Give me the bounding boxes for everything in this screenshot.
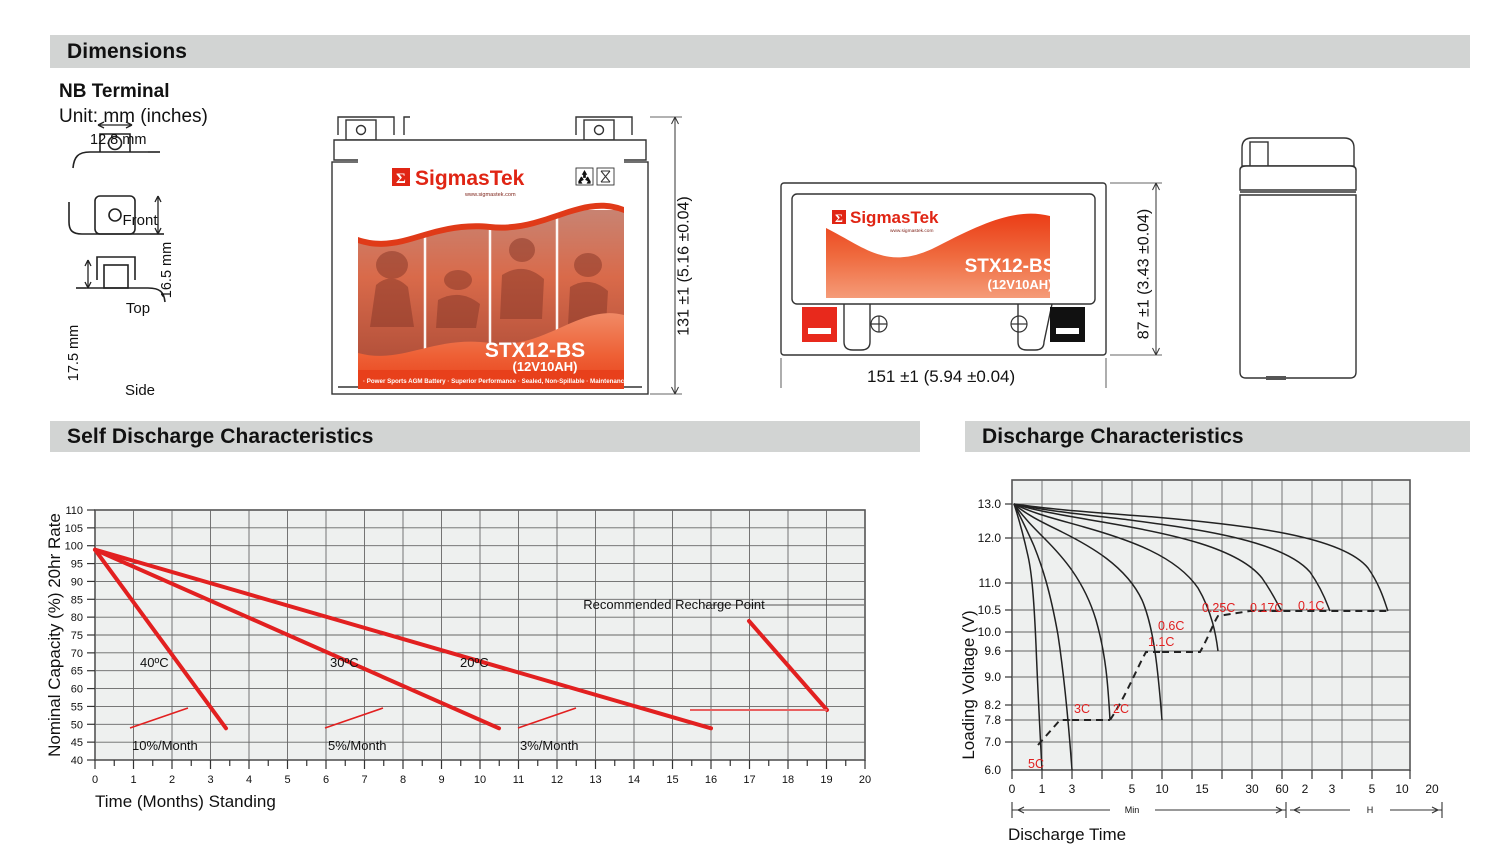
- discharge-chart: 13.012.011.0 10.510.09.6 9.08.27.8 7.06.…: [950, 470, 1450, 850]
- brand-sigma-icon: Σ: [396, 171, 406, 187]
- section-title-dimensions: Dimensions: [67, 40, 187, 64]
- svg-text:60: 60: [1275, 782, 1289, 796]
- no-dispose-icon: [597, 168, 614, 185]
- x-unit-min: Min: [1125, 805, 1140, 815]
- svg-text:2: 2: [169, 774, 175, 786]
- svg-text:3C: 3C: [1074, 702, 1090, 716]
- section-title-discharge: Discharge Characteristics: [982, 425, 1244, 449]
- brand-website-side: www.sigmastek.com: [890, 228, 933, 234]
- svg-text:14: 14: [628, 774, 640, 786]
- svg-text:10.5: 10.5: [978, 603, 1002, 617]
- section-header-discharge: Discharge Characteristics: [965, 421, 1470, 452]
- svg-text:20: 20: [1425, 782, 1439, 796]
- datasheet-page: Dimensions NB Terminal Unit: mm (inches): [0, 0, 1500, 856]
- battery-side-view: Σ SigmasTek www.sigmastek.com STX12-BS (…: [778, 180, 1178, 390]
- svg-text:0: 0: [92, 774, 98, 786]
- terminal-view-side: Side: [110, 382, 170, 399]
- positive-terminal: [802, 307, 837, 342]
- svg-text:2C: 2C: [1113, 702, 1129, 716]
- svg-text:70: 70: [71, 648, 83, 660]
- svg-text:1.1C: 1.1C: [1148, 635, 1174, 649]
- svg-text:3: 3: [1329, 782, 1336, 796]
- svg-text:Recommended Recharge Point: Recommended Recharge Point: [583, 597, 765, 612]
- svg-text:0.25C: 0.25C: [1202, 601, 1235, 615]
- svg-text:7.8: 7.8: [984, 713, 1001, 727]
- svg-text:19: 19: [820, 774, 832, 786]
- svg-text:15: 15: [666, 774, 678, 786]
- svg-text:7: 7: [361, 774, 367, 786]
- recycle-icon: [576, 168, 593, 185]
- y-axis-title: Nominal Capacity (%) 20hr Rate: [45, 513, 64, 757]
- svg-text:30: 30: [1245, 782, 1259, 796]
- section-header-self-discharge: Self Discharge Characteristics: [50, 421, 920, 452]
- battery-rating-side: (12V10AH): [987, 277, 1052, 292]
- svg-text:100: 100: [65, 541, 83, 553]
- svg-text:13: 13: [589, 774, 601, 786]
- svg-text:0: 0: [1009, 782, 1016, 796]
- nb-terminal-title: NB Terminal: [59, 81, 170, 103]
- svg-text:5%/Month: 5%/Month: [328, 738, 387, 753]
- svg-text:8.2: 8.2: [984, 698, 1001, 712]
- battery-width-dim: 151 ±1 (5.94 ±0.04): [867, 367, 1015, 387]
- terminal-width-dim: 12.8 mm: [90, 132, 146, 148]
- brand-name-side: SigmasTek: [850, 208, 939, 227]
- discharge-y-axis-title: Loading Voltage (V): [959, 610, 978, 759]
- battery-front-view: · Power Sports AGM Battery · Superior Pe…: [330, 115, 710, 400]
- terminal-height-dim: 16.5 mm: [159, 242, 175, 298]
- svg-text:12: 12: [551, 774, 563, 786]
- svg-text:75: 75: [71, 630, 83, 642]
- y-axis-tick-labels: 110105100 959085 807570 656055 504540: [65, 505, 83, 767]
- svg-text:3: 3: [1069, 782, 1076, 796]
- section-title-self-discharge: Self Discharge Characteristics: [67, 425, 373, 449]
- svg-text:40ºC: 40ºC: [140, 655, 169, 670]
- svg-text:6: 6: [323, 774, 329, 786]
- svg-text:5: 5: [284, 774, 290, 786]
- svg-text:55: 55: [71, 701, 83, 713]
- svg-text:7.0: 7.0: [984, 735, 1001, 749]
- svg-text:11.0: 11.0: [979, 576, 1002, 590]
- svg-text:10.0: 10.0: [978, 625, 1002, 639]
- terminal-view-top: Top: [108, 300, 168, 317]
- x-unit-hour: H: [1367, 805, 1374, 815]
- svg-text:2: 2: [1302, 782, 1309, 796]
- svg-text:6.0: 6.0: [984, 763, 1001, 777]
- svg-text:10: 10: [474, 774, 486, 786]
- terminal-view-front: Front: [110, 212, 170, 229]
- svg-text:0.1C: 0.1C: [1298, 599, 1324, 613]
- svg-text:0.6C: 0.6C: [1158, 619, 1184, 633]
- battery-rating: (12V10AH): [512, 359, 577, 374]
- svg-text:60: 60: [71, 684, 83, 696]
- svg-text:5C: 5C: [1028, 757, 1044, 771]
- brand-sigma-icon-side: Σ: [835, 211, 843, 225]
- x-axis-title: Time (Months) Standing: [95, 792, 276, 811]
- discharge-x-axis-title: Discharge Time: [1008, 825, 1126, 844]
- svg-text:110: 110: [65, 505, 83, 517]
- svg-text:1: 1: [130, 774, 136, 786]
- svg-text:3%/Month: 3%/Month: [520, 738, 579, 753]
- svg-text:9.0: 9.0: [984, 670, 1001, 684]
- svg-text:85: 85: [71, 594, 83, 606]
- x-unit-brackets: [1012, 802, 1442, 818]
- svg-text:5: 5: [1369, 782, 1376, 796]
- unit-label: Unit: mm (inches): [59, 106, 208, 128]
- svg-text:10%/Month: 10%/Month: [132, 738, 198, 753]
- svg-text:10: 10: [1155, 782, 1169, 796]
- svg-text:1: 1: [1039, 782, 1046, 796]
- svg-text:65: 65: [71, 666, 83, 678]
- svg-text:13.0: 13.0: [978, 497, 1002, 511]
- svg-text:105: 105: [65, 523, 83, 535]
- svg-text:20ºC: 20ºC: [460, 655, 489, 670]
- svg-text:5: 5: [1129, 782, 1136, 796]
- svg-text:11: 11: [513, 774, 524, 786]
- svg-text:95: 95: [71, 559, 83, 571]
- brand-website: www.sigmastek.com: [464, 192, 516, 198]
- svg-text:15: 15: [1195, 782, 1209, 796]
- battery-side-height-dim: 87 ±1 (3.43 ±0.04): [1135, 209, 1153, 340]
- discharge-y-tick-labels: 13.012.011.0 10.510.09.6 9.08.27.8 7.06.…: [978, 497, 1002, 777]
- negative-terminal: [1050, 307, 1085, 342]
- brand-name: SigmasTek: [415, 167, 525, 190]
- svg-text:4: 4: [246, 774, 252, 786]
- svg-text:45: 45: [71, 737, 83, 749]
- svg-text:3: 3: [207, 774, 213, 786]
- svg-text:8: 8: [400, 774, 406, 786]
- svg-text:80: 80: [71, 612, 83, 624]
- terminal-depth-dim: 17.5 mm: [66, 325, 82, 381]
- svg-text:16: 16: [705, 774, 717, 786]
- svg-text:9: 9: [438, 774, 444, 786]
- self-discharge-chart: 110105100 959085 807570 656055 504540: [40, 495, 890, 815]
- x-axis-tick-labels: 012 345 678 91011 121314 151617 181920: [92, 774, 871, 786]
- battery-height-dim: 131 ±1 (5.16 ±0.04): [676, 196, 694, 335]
- battery-profile-view: [1238, 120, 1368, 395]
- discharge-x-tick-labels: 013 51015 30602 3510 20: [1009, 782, 1439, 796]
- svg-text:50: 50: [71, 719, 83, 731]
- battery-tagline: · Power Sports AGM Battery · Superior Pe…: [363, 378, 643, 385]
- svg-text:90: 90: [71, 576, 83, 588]
- svg-text:40: 40: [71, 755, 83, 767]
- svg-text:20: 20: [859, 774, 871, 786]
- svg-text:0.17C: 0.17C: [1250, 601, 1283, 615]
- svg-text:9.6: 9.6: [984, 644, 1001, 658]
- svg-text:18: 18: [782, 774, 794, 786]
- section-header-dimensions: Dimensions: [50, 35, 1470, 68]
- svg-text:10: 10: [1395, 782, 1409, 796]
- svg-text:12.0: 12.0: [978, 531, 1002, 545]
- battery-model-side: STX12-BS: [965, 256, 1056, 277]
- svg-text:30ºC: 30ºC: [330, 655, 359, 670]
- svg-text:17: 17: [743, 774, 755, 786]
